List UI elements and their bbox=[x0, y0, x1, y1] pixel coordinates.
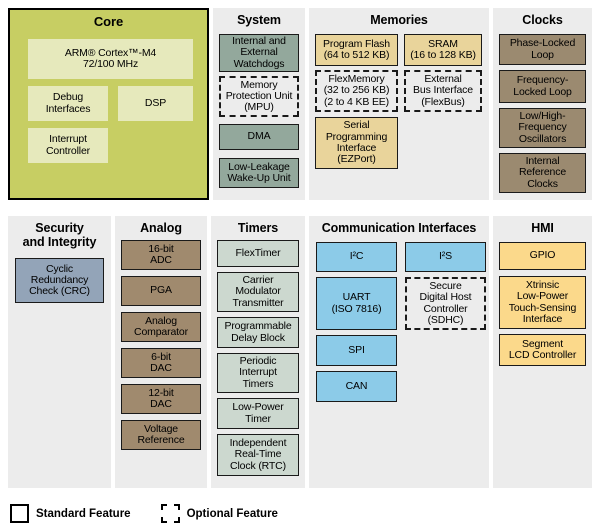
block-cortex-m4: ARM® Cortex™-M4 72/100 MHz bbox=[28, 39, 193, 79]
block-dma-label: DMA bbox=[248, 131, 271, 142]
block-program-flash: Program Flash (64 to 512 KB) bbox=[315, 34, 398, 66]
block-pdb-line-2: Delay Block bbox=[231, 333, 285, 344]
block-gpio: GPIO bbox=[499, 242, 586, 270]
block-analog-comparator-line-2: Comparator bbox=[134, 327, 188, 338]
block-dac-12bit-line-2: DAC bbox=[150, 399, 172, 410]
block-sdhc: Secure Digital Host Controller (SDHC) bbox=[405, 277, 486, 330]
block-i2c: I²C bbox=[316, 242, 397, 272]
block-interrupt-controller: Interrupt Controller bbox=[28, 128, 108, 163]
panel-timers: Timers FlexTimer Carrier Modulator Trans… bbox=[211, 216, 305, 488]
panel-core-title: Core bbox=[10, 10, 207, 28]
block-external-bus-interface: External Bus Interface (FlexBus) bbox=[404, 70, 482, 112]
block-sram-line-2: (16 to 128 KB) bbox=[410, 50, 476, 61]
block-sdhc-line-4: (SDHC) bbox=[428, 315, 464, 326]
panel-security-title-line-2: and Integrity bbox=[8, 236, 111, 250]
block-segment-lcd-controller: Segment LCD Controller bbox=[499, 334, 586, 366]
block-low-power-timer: Low-Power Timer bbox=[217, 398, 299, 429]
block-flextimer-label: FlexTimer bbox=[236, 248, 281, 259]
block-i2c-label: I²C bbox=[350, 251, 364, 262]
legend: Standard Feature Optional Feature bbox=[10, 504, 278, 523]
block-i2s-label: I²S bbox=[439, 251, 452, 262]
panel-security: Security and Integrity Cyclic Redundancy… bbox=[8, 216, 111, 488]
block-touch-sensing-line-2: Low-Power bbox=[517, 291, 568, 302]
block-oscillators-line-3: Oscillators bbox=[519, 134, 566, 145]
block-periodic-interrupt-timers: Periodic Interrupt Timers bbox=[217, 353, 299, 393]
block-debug-interfaces-line-1: Debug bbox=[53, 92, 83, 103]
block-carrier-modulator-transmitter: Carrier Modulator Transmitter bbox=[217, 272, 299, 312]
panel-timers-title: Timers bbox=[211, 216, 305, 235]
panel-communication: Communication Interfaces I²C I²S UART (I… bbox=[309, 216, 489, 488]
block-uart-line-2: (ISO 7816) bbox=[332, 304, 382, 315]
panel-clocks: Clocks Phase-Locked Loop Frequency- Lock… bbox=[493, 8, 592, 200]
block-crc-line-3: Check (CRC) bbox=[29, 286, 90, 297]
legend-standard: Standard Feature bbox=[10, 504, 131, 523]
block-ezport-line-4: (EZPort) bbox=[337, 154, 375, 165]
block-low-leakage-wakeup-line-2: Wake-Up Unit bbox=[227, 173, 290, 184]
block-watchdogs-line-2: External bbox=[240, 47, 277, 58]
block-flexmemory: FlexMemory (32 to 256 KB) (2 to 4 KB EE) bbox=[315, 70, 398, 112]
block-pll-line-2: Loop bbox=[531, 50, 554, 61]
panel-core: Core ARM® Cortex™-M4 72/100 MHz Debug In… bbox=[8, 8, 209, 200]
block-sram: SRAM (16 to 128 KB) bbox=[404, 34, 482, 66]
block-fll: Frequency- Locked Loop bbox=[499, 70, 586, 103]
block-pit-line-2: Interrupt bbox=[239, 367, 277, 378]
block-diagram: Core ARM® Cortex™-M4 72/100 MHz Debug In… bbox=[0, 0, 600, 529]
block-fll-line-2: Locked Loop bbox=[513, 87, 571, 98]
panel-system: System Internal and External Watchdogs M… bbox=[213, 8, 305, 200]
block-rtc-line-2: Real-Time bbox=[235, 449, 282, 460]
block-cmt-line-3: Transmitter bbox=[232, 298, 283, 309]
block-fll-line-1: Frequency- bbox=[517, 75, 569, 86]
block-adc-16bit: 16-bit ADC bbox=[121, 240, 201, 270]
block-program-flash-line-2: (64 to 512 KB) bbox=[324, 50, 390, 61]
panel-analog: Analog 16-bit ADC PGA Analog Comparator … bbox=[115, 216, 207, 488]
block-internal-reference-clocks: Internal Reference Clocks bbox=[499, 153, 586, 193]
block-programmable-delay-block: Programmable Delay Block bbox=[217, 317, 299, 348]
panel-memories: Memories Program Flash (64 to 512 KB) SR… bbox=[309, 8, 489, 200]
block-watchdogs: Internal and External Watchdogs bbox=[219, 34, 299, 72]
block-dsp: DSP bbox=[118, 86, 193, 121]
block-oscillators: Low/High- Frequency Oscillators bbox=[499, 108, 586, 148]
panel-analog-title: Analog bbox=[115, 216, 207, 235]
block-pll: Phase-Locked Loop bbox=[499, 34, 586, 65]
block-spi-label: SPI bbox=[348, 345, 364, 356]
block-analog-comparator: Analog Comparator bbox=[121, 312, 201, 342]
block-interrupt-controller-line-1: Interrupt bbox=[49, 134, 87, 145]
block-pga: PGA bbox=[121, 276, 201, 306]
block-ezport-line-1: Serial bbox=[344, 120, 370, 131]
block-low-power-timer-line-1: Low-Power bbox=[232, 402, 283, 413]
block-mpu-line-3: (MPU) bbox=[244, 102, 274, 113]
block-internal-reference-clocks-line-3: Clocks bbox=[527, 179, 558, 190]
legend-optional-label: Optional Feature bbox=[187, 508, 278, 520]
block-rtc: Independent Real-Time Clock (RTC) bbox=[217, 434, 299, 476]
panel-hmi: HMI GPIO Xtrinsic Low-Power Touch-Sensin… bbox=[493, 216, 592, 488]
block-dac-6bit: 6-bit DAC bbox=[121, 348, 201, 378]
block-can-label: CAN bbox=[346, 381, 368, 392]
block-external-bus-interface-line-3: (FlexBus) bbox=[421, 97, 465, 108]
panel-memories-title: Memories bbox=[309, 8, 489, 27]
block-pll-line-1: Phase-Locked bbox=[510, 38, 575, 49]
standard-feature-swatch-icon bbox=[10, 504, 29, 523]
block-oscillators-line-2: Frequency bbox=[518, 122, 566, 133]
block-touch-sensing-line-4: Interface bbox=[523, 314, 563, 325]
block-external-bus-interface-line-2: Bus Interface bbox=[413, 85, 473, 96]
block-dma: DMA bbox=[219, 124, 299, 150]
block-pit-line-3: Timers bbox=[243, 379, 274, 390]
legend-optional: Optional Feature bbox=[161, 504, 278, 523]
legend-standard-label: Standard Feature bbox=[36, 508, 131, 520]
block-crc: Cyclic Redundancy Check (CRC) bbox=[15, 258, 104, 303]
block-uart: UART (ISO 7816) bbox=[316, 277, 397, 330]
block-uart-line-1: UART bbox=[343, 292, 371, 303]
block-watchdogs-line-3: Watchdogs bbox=[234, 59, 285, 70]
block-touch-sensing: Xtrinsic Low-Power Touch-Sensing Interfa… bbox=[499, 276, 586, 329]
block-sdhc-line-2: Digital Host bbox=[420, 292, 472, 303]
block-segment-lcd-line-2: LCD Controller bbox=[509, 350, 576, 361]
block-can: CAN bbox=[316, 371, 397, 402]
block-mpu: Memory Protection Unit (MPU) bbox=[219, 76, 299, 117]
block-i2s: I²S bbox=[405, 242, 486, 272]
panel-communication-title: Communication Interfaces bbox=[309, 216, 489, 235]
block-debug-interfaces: Debug Interfaces bbox=[28, 86, 108, 121]
block-internal-reference-clocks-line-2: Reference bbox=[519, 167, 566, 178]
block-cmt-line-2: Modulator bbox=[235, 286, 280, 297]
block-dac-6bit-line-2: DAC bbox=[150, 363, 172, 374]
block-rtc-line-3: Clock (RTC) bbox=[230, 461, 286, 472]
block-spi: SPI bbox=[316, 335, 397, 366]
block-dac-12bit: 12-bit DAC bbox=[121, 384, 201, 414]
block-pga-label: PGA bbox=[150, 285, 172, 296]
block-interrupt-controller-line-2: Controller bbox=[46, 146, 90, 157]
block-gpio-label: GPIO bbox=[530, 250, 556, 261]
block-voltage-reference: Voltage Reference bbox=[121, 420, 201, 450]
block-debug-interfaces-line-2: Interfaces bbox=[46, 104, 91, 115]
block-flexmemory-line-2: (32 to 256 KB) bbox=[324, 85, 390, 96]
block-ezport: Serial Programming Interface (EZPort) bbox=[315, 117, 398, 169]
block-dsp-label: DSP bbox=[145, 98, 166, 109]
block-flexmemory-line-3: (2 to 4 KB EE) bbox=[324, 97, 389, 108]
panel-clocks-title: Clocks bbox=[493, 8, 592, 27]
panel-system-title: System bbox=[213, 8, 305, 27]
block-cortex-m4-line-2: 72/100 MHz bbox=[83, 59, 138, 70]
panel-security-title: Security and Integrity bbox=[8, 216, 111, 249]
block-flextimer: FlexTimer bbox=[217, 240, 299, 267]
block-low-power-timer-line-2: Timer bbox=[245, 414, 271, 425]
block-low-leakage-wakeup: Low-Leakage Wake-Up Unit bbox=[219, 158, 299, 188]
block-adc-16bit-line-2: ADC bbox=[150, 255, 172, 266]
optional-feature-swatch-icon bbox=[161, 504, 180, 523]
panel-hmi-title: HMI bbox=[493, 216, 592, 235]
block-voltage-reference-line-2: Reference bbox=[137, 435, 184, 446]
block-pdb-line-1: Programmable bbox=[224, 321, 291, 332]
panel-security-title-line-1: Security bbox=[8, 222, 111, 236]
